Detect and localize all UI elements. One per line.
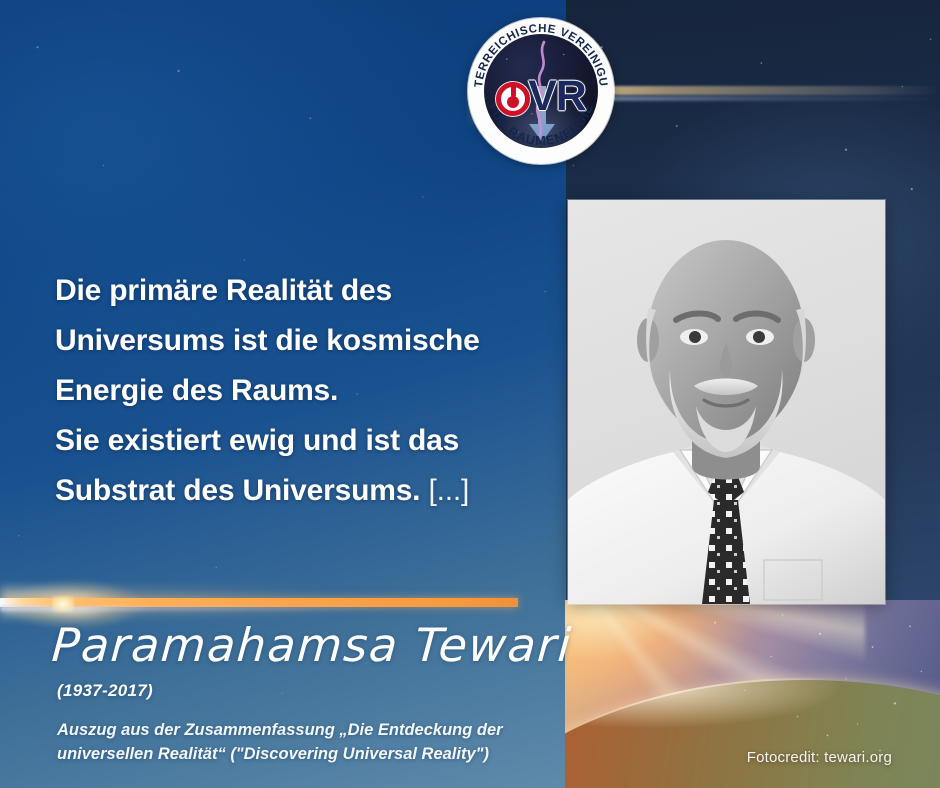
quote-card: ÖSTERREICHISCHE VEREINIGUNG FÜR RAUMENER… [0, 0, 940, 788]
ovr-logo[interactable]: ÖSTERREICHISCHE VEREINIGUNG FÜR RAUMENER… [468, 18, 614, 164]
quote-line-1: Die primäre Realität des [55, 266, 555, 316]
portrait-photo [568, 200, 885, 604]
quote-line-3: Energie des Raums. [55, 366, 555, 416]
quote-block: Die primäre Realität des Universums ist … [55, 266, 555, 516]
author-years: (1937-2017) [57, 681, 153, 701]
quote-line-5: Substrat des Universums. [...] [55, 466, 555, 516]
quote-source: Auszug aus der Zusammenfassung „Die Entd… [57, 718, 527, 766]
logo-vr-text: VR [528, 72, 586, 120]
quote-ellipsis: [...] [428, 474, 469, 507]
photo-credit: Fotocredit: tewari.org [747, 749, 892, 766]
portrait-illustration [568, 200, 885, 604]
quote-source-line-1: Auszug aus der Zusammenfassung „Die Entd… [57, 718, 527, 742]
logo-ovr-letters: VR [468, 72, 614, 121]
author-name: Paramahamsa Tewari [50, 616, 574, 674]
quote-line-2: Universums ist die kosmische [55, 316, 555, 366]
divider-lens-flare-core [52, 596, 74, 612]
quote-line-5-text: Substrat des Universums. [55, 474, 420, 507]
quote-line-4: Sie existiert ewig und ist das [55, 416, 555, 466]
quote-source-line-2: universellen Realität“ ("Discovering Uni… [57, 742, 527, 766]
logo-power-o-icon [496, 82, 530, 116]
